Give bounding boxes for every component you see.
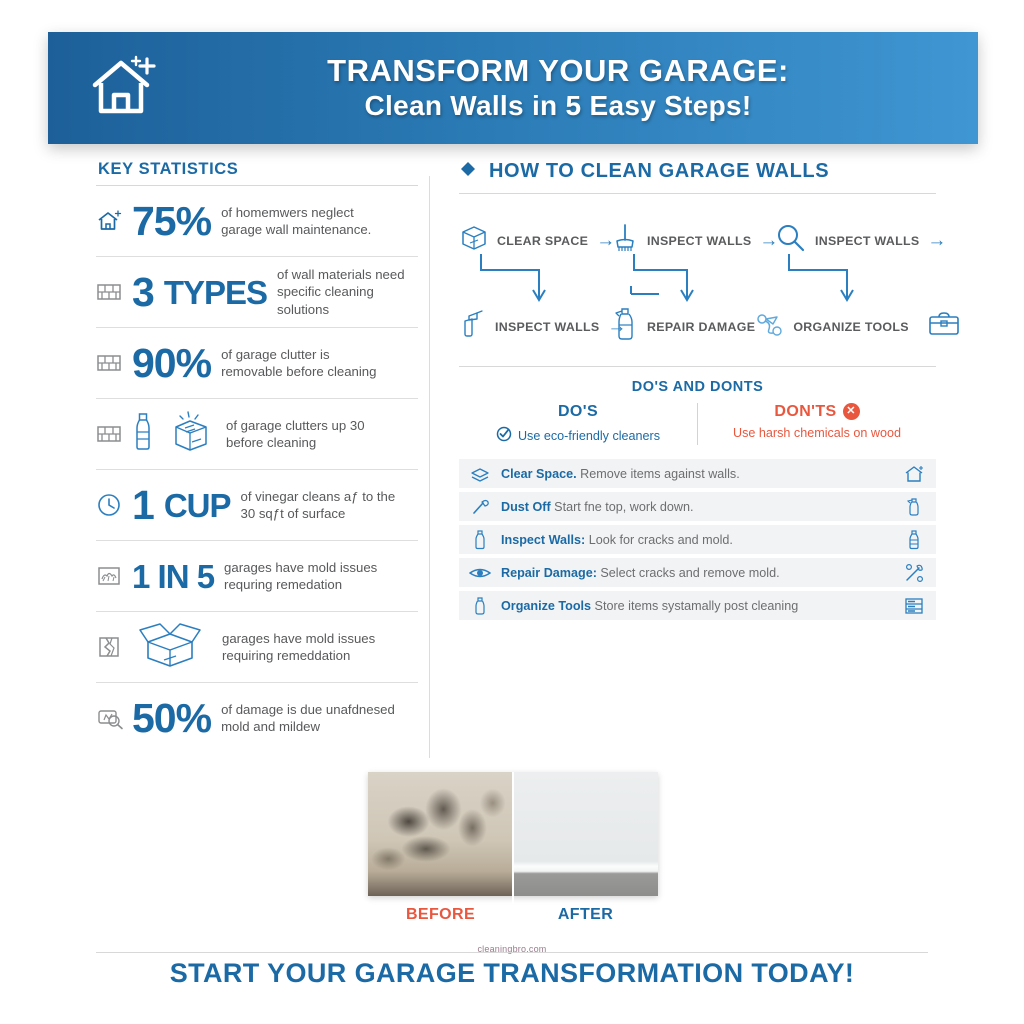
x-circle-icon: ✕ — [843, 403, 860, 420]
bottle-icon — [469, 530, 491, 550]
checklist-bold: Inspect Walls: — [501, 533, 585, 547]
checklist-text: Dust Off Start fne top, work down. — [501, 500, 892, 514]
flow-label: INSPECT WALLS — [647, 234, 751, 248]
header-text: TRANSFORM YOUR GARAGE: Clean Walls in 5 … — [198, 54, 978, 122]
divider — [459, 193, 936, 194]
flow-node: INSPECT WALLS → — [459, 308, 611, 345]
mold-spore-icon — [755, 310, 785, 343]
stat-text-line2: before cleaning — [226, 434, 418, 451]
stat-text: of homemwers neglect garage wall mainten… — [221, 204, 418, 238]
donts-item: Use harsh chemicals on wood — [698, 426, 936, 440]
stat-text-line2: removable before cleaning — [221, 363, 418, 380]
mold-patch-icon — [96, 564, 132, 588]
checklist-text: Inspect Walls: Look for cracks and mold. — [501, 533, 892, 547]
flow-label: ORGANIZE TOOLS — [793, 320, 909, 334]
stat-number: 50% — [132, 698, 211, 739]
stat-number: 90% — [132, 343, 211, 384]
flow-label: INSPECT WALLS — [495, 320, 599, 334]
stat-text-line1: of wall materials need — [277, 266, 418, 283]
clock-icon — [96, 492, 132, 518]
checklist-rest: Start fne top, work down. — [554, 500, 693, 514]
dos-column: DO'S Use eco-friendly cleaners — [459, 403, 698, 445]
spray-icon — [459, 308, 487, 345]
dos-donts-section: DO'S AND DONTS DO'S Use eco-friendly cl — [459, 366, 936, 445]
checklist-rest: Select cracks and remove mold. — [600, 566, 779, 580]
checklist-row[interactable]: Clear Space. Remove items against walls. — [459, 459, 936, 488]
after-image — [513, 772, 658, 896]
checklist-text: Organize Tools Store items systamally po… — [501, 599, 892, 613]
dos-heading: DO'S — [459, 403, 697, 421]
flow-row-2: INSPECT WALLS → REPAIR DAMAGE — [459, 306, 936, 347]
infographic-canvas: TRANSFORM YOUR GARAGE: Clean Walls in 5 … — [0, 0, 1024, 1024]
flow-row-1: CLEAR SPACE → INSPECT WALLS → — [459, 222, 936, 259]
stat-text-line2: requring remedation — [224, 576, 418, 593]
checklist-bold: Clear Space. — [501, 467, 577, 481]
shelf-icon — [902, 596, 926, 616]
crack-icon — [96, 635, 132, 659]
flow-node: INSPECT WALLS → — [611, 222, 775, 259]
check-circle-icon — [496, 426, 512, 445]
spray-bottle-icon — [469, 596, 491, 616]
flow-label: REPAIR DAMAGE — [647, 320, 755, 334]
before-label: BEFORE — [368, 906, 513, 924]
header-banner: TRANSFORM YOUR GARAGE: Clean Walls in 5 … — [48, 32, 978, 144]
donts-heading-text: DON'TS — [774, 403, 836, 420]
dos-item: Use eco-friendly cleaners — [459, 426, 697, 445]
brick-wall-icon — [96, 281, 132, 303]
stat-text-line1: of homemwers neglect — [221, 204, 418, 221]
bottle-icon — [132, 411, 154, 458]
checklist-bold: Dust Off — [501, 500, 551, 514]
dos-donts-columns: DO'S Use eco-friendly cleaners — [459, 403, 936, 445]
donts-heading: DON'TS✕ — [698, 403, 936, 421]
magnifier-icon — [775, 222, 807, 259]
stat-number: 3 — [132, 272, 154, 313]
how-to-section: HOW TO CLEAN GARAGE WALLS — [459, 160, 936, 624]
arrow-icon: → — [927, 231, 946, 250]
checklist-rest: Store items systamally post cleaning — [595, 599, 799, 613]
brush-icon — [611, 222, 639, 259]
donts-column: DON'TS✕ Use harsh chemicals on wood — [698, 403, 936, 445]
flow-label: CLEAR SPACE — [497, 234, 588, 248]
dos-text: Use eco-friendly cleaners — [518, 429, 660, 443]
boxes-icon — [469, 465, 491, 483]
spray-bottle-icon — [902, 497, 926, 517]
dos-donts-title: DO'S AND DONTS — [459, 379, 936, 395]
column-divider — [429, 176, 430, 758]
header-title-line2: Clean Walls in 5 Easy Steps! — [198, 89, 918, 123]
house-icon — [96, 209, 132, 233]
flow-node: CLEAR SPACE → — [459, 223, 611, 258]
flow-diagram: CLEAR SPACE → INSPECT WALLS → — [459, 210, 936, 350]
before-after-images — [368, 772, 658, 896]
checklist-bold: Organize Tools — [501, 599, 591, 613]
stat-row: 75% of homemwers neglect garage wall mai… — [96, 186, 418, 257]
flow-node: INSPECT WALLS → — [775, 222, 946, 259]
stat-row: 1 IN 5 garages have mold issues requring… — [96, 541, 418, 612]
checklist-rest: Look for cracks and mold. — [589, 533, 733, 547]
key-statistics-section: KEY STATISTICS 75% of homemwers neglect … — [96, 160, 418, 753]
open-box-icon — [132, 620, 208, 675]
stat-text-line1: of vinegar cleans aƒ to the — [241, 488, 419, 505]
stat-text-line2: 30 sqƒt of surface — [241, 505, 419, 522]
flow-node: REPAIR DAMAGE — [611, 306, 755, 347]
stat-extra-icons — [132, 411, 212, 458]
spray-bottle-icon — [611, 306, 639, 347]
before-image — [368, 772, 513, 896]
stat-row: 1 CUP of vinegar cleans aƒ to the 30 sqƒ… — [96, 470, 418, 541]
stat-text: garages have mold issues requring remeda… — [224, 559, 418, 593]
donts-text: Use harsh chemicals on wood — [733, 426, 901, 440]
stat-text-line2: specific cleaning solutions — [277, 283, 418, 317]
stat-text-line1: garages have mold issues — [224, 559, 418, 576]
checklist-row[interactable]: Inspect Walls: Look for cracks and mold. — [459, 525, 936, 554]
stat-text-line1: of garage clutter is — [221, 346, 418, 363]
flow-label: INSPECT WALLS — [815, 234, 919, 248]
cta-text: START YOUR GARAGE TRANSFORMATION TODAY! — [0, 958, 1024, 989]
stat-extra-icons — [132, 620, 208, 675]
toolbox-icon — [927, 310, 961, 343]
header-title-line1: TRANSFORM YOUR GARAGE: — [198, 54, 918, 89]
stat-text-line2: garage wall maintenance. — [221, 221, 418, 238]
before-after-section: BEFORE AFTER — [368, 772, 658, 924]
footer-divider — [96, 952, 928, 953]
after-label: AFTER — [513, 906, 658, 924]
stat-row: 3 TYPES of wall materials need specific … — [96, 257, 418, 328]
bottle-icon — [902, 530, 926, 550]
eye-icon — [469, 565, 491, 581]
stat-row: of garage clutters up 30 before cleaning — [96, 399, 418, 470]
stat-text: of damage is due unafdnesed mold and mil… — [221, 701, 418, 735]
checklist-row[interactable]: Dust Off Start fne top, work down. — [459, 492, 936, 521]
checklist-text: Clear Space. Remove items against walls. — [501, 467, 892, 481]
stat-unit: CUP — [164, 489, 231, 522]
stat-number: 1 — [132, 485, 154, 526]
box-burst-icon — [168, 411, 212, 458]
stat-text-line2: requiring remeddation — [222, 647, 418, 664]
brick-wall-icon — [96, 423, 132, 445]
stat-text: of garage clutters up 30 before cleaning — [226, 417, 418, 451]
box-icon — [459, 223, 489, 258]
stat-text: of vinegar cleans aƒ to the 30 sqƒt of s… — [241, 488, 419, 522]
checklist-row[interactable]: Organize Tools Store items systamally po… — [459, 591, 936, 620]
diamond-bullet-icon — [459, 160, 477, 183]
house-sparkle-icon — [48, 53, 198, 123]
magnifier-crack-icon — [96, 706, 132, 730]
checklist-row[interactable]: Repair Damage: Select cracks and remove … — [459, 558, 936, 587]
stat-text: of wall materials need specific cleaning… — [277, 266, 418, 317]
key-statistics-title: KEY STATISTICS — [98, 160, 418, 179]
stat-row: garages have mold issues requiring remed… — [96, 612, 418, 683]
stat-row: 50% of damage is due unafdnesed mold and… — [96, 683, 418, 753]
stat-unit: TYPES — [164, 276, 267, 309]
how-to-title: HOW TO CLEAN GARAGE WALLS — [489, 160, 829, 183]
house-clean-icon — [902, 464, 926, 484]
stat-text-line1: garages have mold issues — [222, 630, 418, 647]
duster-icon — [469, 498, 491, 516]
checklist-bold: Repair Damage: — [501, 566, 597, 580]
brick-wall-icon — [96, 352, 132, 374]
stat-text-line1: of damage is due unafdnesed — [221, 701, 418, 718]
checklist: Clear Space. Remove items against walls. — [459, 459, 936, 620]
checklist-text: Repair Damage: Select cracks and remove … — [501, 566, 892, 580]
stat-text-line1: of garage clutters up 30 — [226, 417, 418, 434]
flow-node: ORGANIZE TOOLS — [755, 310, 961, 343]
stat-text-line2: mold and mildew — [221, 718, 418, 735]
wrench-icon — [902, 563, 926, 583]
stat-number: 1 IN 5 — [132, 560, 214, 593]
image-separator — [512, 772, 514, 930]
stat-text: of garage clutter is removable before cl… — [221, 346, 418, 380]
stat-row: 90% of garage clutter is removable befor… — [96, 328, 418, 399]
checklist-rest: Remove items against walls. — [580, 467, 740, 481]
stat-text: garages have mold issues requiring remed… — [222, 630, 418, 664]
stat-number: 75% — [132, 201, 211, 242]
